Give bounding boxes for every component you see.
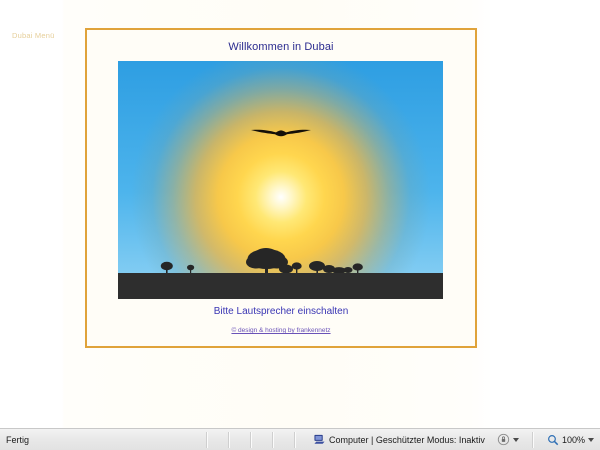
bird-silhouette-icon — [249, 125, 313, 141]
status-divider — [228, 432, 230, 448]
zoom-chevron-down-icon[interactable] — [588, 438, 594, 442]
security-zone-label: Computer | Geschützter Modus: Inaktiv — [329, 435, 485, 445]
security-zone-status[interactable]: Computer | Geschützter Modus: Inaktiv — [314, 434, 485, 445]
credit-link[interactable]: © design & hosting by frankennetz — [231, 327, 330, 334]
zoom-level-label[interactable]: 100% — [562, 435, 585, 445]
magnifier-icon[interactable] — [547, 434, 559, 446]
status-divider — [294, 432, 296, 448]
speaker-note: Bitte Lautsprecher einschalten — [87, 306, 475, 317]
page-title: Willkommen in Dubai — [87, 30, 475, 53]
security-zone-icon[interactable] — [497, 433, 510, 446]
computer-icon — [314, 434, 325, 445]
status-divider — [532, 432, 534, 448]
browser-page-viewport: Dubai Menü Willkommen in Dubai — [0, 0, 600, 428]
content-panel: Willkommen in Dubai — [85, 28, 477, 348]
status-divider — [206, 432, 208, 448]
sunset-image — [118, 61, 443, 299]
status-bar: Fertig Computer | Geschützter Modus: Ina… — [0, 428, 600, 450]
status-divider — [272, 432, 274, 448]
ground-band — [118, 273, 443, 299]
status-bar-right-controls: 100% — [497, 432, 600, 448]
status-message: Fertig — [0, 435, 196, 445]
credit-line: © design & hosting by frankennetz — [87, 327, 475, 334]
security-zone-chevron-down-icon[interactable] — [513, 438, 519, 442]
status-divider — [250, 432, 252, 448]
sidebar-item-dubai-menu[interactable]: Dubai Menü — [12, 31, 74, 41]
